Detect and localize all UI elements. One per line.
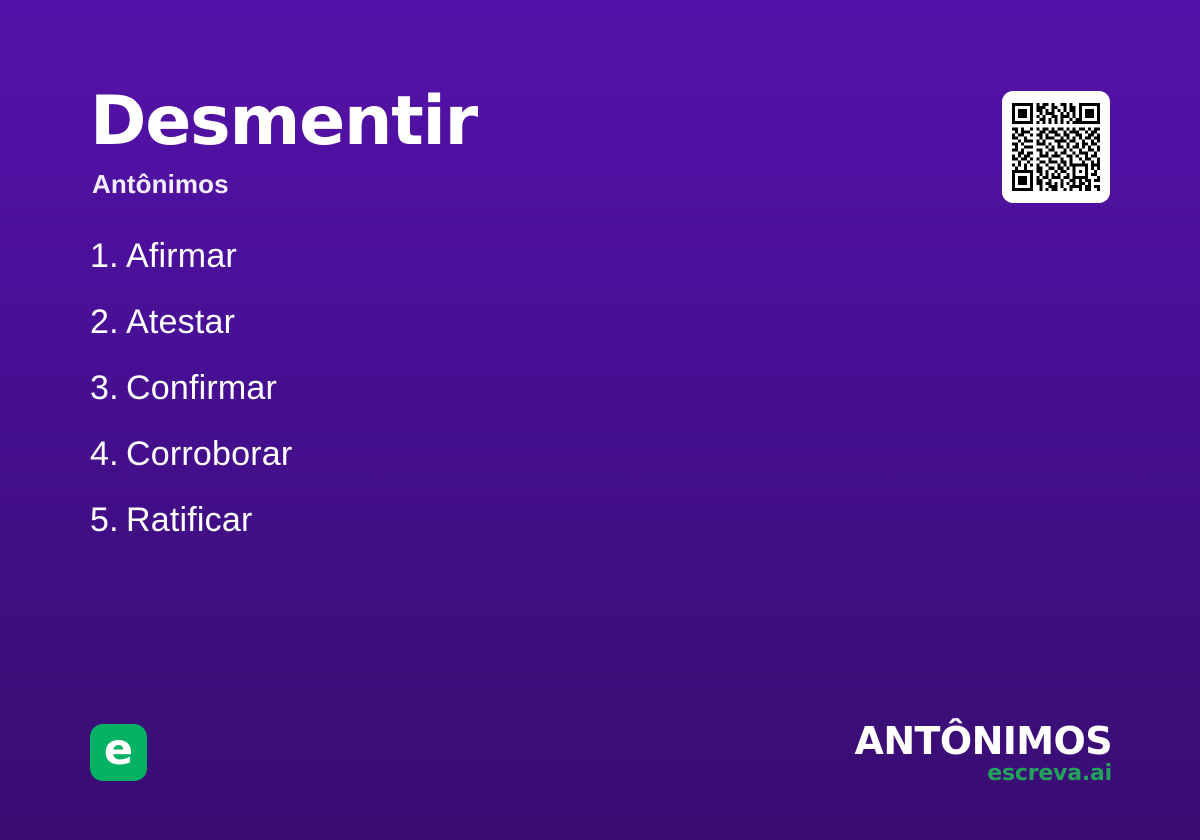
- list-item: 3.Confirmar: [90, 368, 850, 408]
- footer-wordmark: ANTÔNIMOS: [855, 722, 1112, 760]
- list-item-word: Confirmar: [126, 369, 277, 407]
- list-item-index: 4.: [90, 434, 126, 474]
- brand-badge-letter: e: [104, 729, 133, 772]
- page-subtitle: Antônimos: [92, 170, 790, 198]
- list-item-index: 5.: [90, 500, 126, 540]
- antonyms-list: 1.Afirmar 2.Atestar 3.Confirmar 4.Corrob…: [90, 236, 850, 566]
- list-item-word: Afirmar: [126, 237, 237, 275]
- list-item: 4.Corroborar: [90, 434, 850, 474]
- list-item-index: 2.: [90, 302, 126, 342]
- list-item: 1.Afirmar: [90, 236, 850, 276]
- page-title: Desmentir: [90, 86, 790, 158]
- list-item: 2.Atestar: [90, 302, 850, 342]
- list-item-index: 3.: [90, 368, 126, 408]
- list-item-word: Atestar: [126, 303, 235, 341]
- footer-tagline: escreva.ai: [855, 762, 1112, 786]
- list-item-index: 1.: [90, 236, 126, 276]
- footer-logo: ANTÔNIMOS escreva.ai: [855, 722, 1112, 786]
- escreva-logo-icon: e: [90, 724, 147, 781]
- qr-code-icon[interactable]: [1002, 91, 1110, 203]
- list-item: 5.Ratificar: [90, 500, 850, 540]
- header: Desmentir Antônimos: [90, 86, 790, 198]
- antonyms-card: Desmentir Antônimos: [0, 0, 1200, 840]
- list-item-word: Corroborar: [126, 435, 292, 473]
- list-item-word: Ratificar: [126, 501, 253, 539]
